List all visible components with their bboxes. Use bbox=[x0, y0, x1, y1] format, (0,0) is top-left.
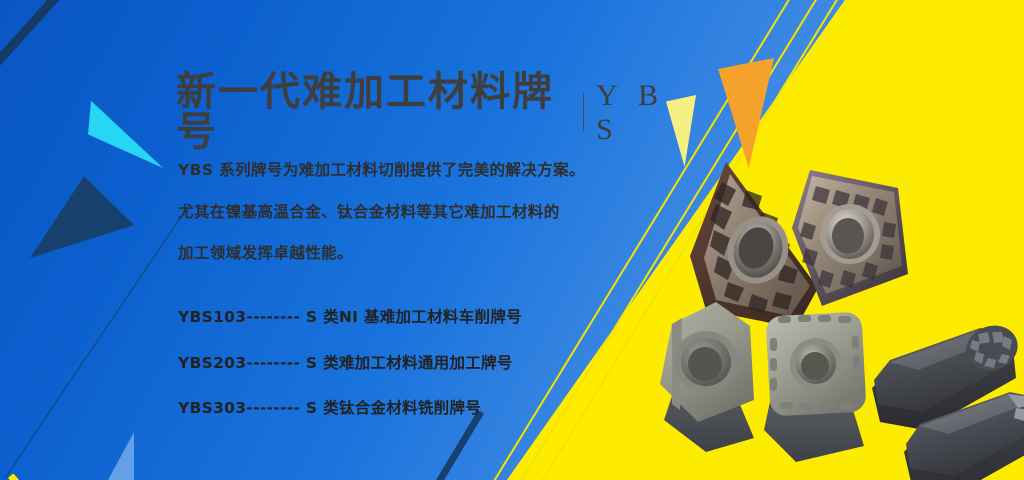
grooving-insert-dark-right bbox=[900, 382, 1024, 480]
spec-item-ybs303: YBS303-------- S 类钛合金材料铣削牌号 bbox=[178, 401, 522, 417]
description-line: 尤其在镍基高温合金、钛合金材料等其它难加工材料的 bbox=[178, 205, 585, 221]
cyan-triangle-icon bbox=[88, 98, 163, 168]
banner-title: 新一代难加工材料牌号 Y B S bbox=[176, 72, 696, 152]
yellow-diagonal-bar-icon bbox=[8, 473, 158, 480]
navy-diagonal-bar-icon bbox=[0, 0, 65, 105]
navy-triangle-icon bbox=[30, 176, 134, 258]
product-image-group bbox=[676, 160, 1024, 480]
thin-navy-line-icon bbox=[4, 216, 182, 479]
spec-list: YBS103-------- S 类NI 基难加工材料车削牌号 YBS203--… bbox=[178, 310, 522, 447]
title-separator bbox=[583, 93, 584, 131]
spec-item-ybs203: YBS203-------- S 类难加工材料通用加工牌号 bbox=[178, 356, 522, 372]
banner-content: 新一代难加工材料牌号 Y B S YBS 系列牌号为难加工材料切削提供了完美的解… bbox=[176, 0, 696, 480]
description-line: 加工领域发挥卓越性能。 bbox=[178, 246, 585, 262]
page-title: 新一代难加工材料牌号 bbox=[176, 72, 567, 152]
description-block: YBS 系列牌号为难加工材料切削提供了完美的解决方案。 尤其在镍基高温合金、钛合… bbox=[178, 163, 585, 288]
promo-banner: 新一代难加工材料牌号 Y B S YBS 系列牌号为难加工材料切削提供了完美的解… bbox=[0, 0, 1024, 480]
light-blue-triangle-icon bbox=[108, 432, 134, 480]
spec-item-ybs103: YBS103-------- S 类NI 基难加工材料车削牌号 bbox=[178, 310, 522, 326]
brand-name: Y B S bbox=[596, 79, 696, 147]
description-line: YBS 系列牌号为难加工材料切削提供了完美的解决方案。 bbox=[178, 163, 585, 179]
